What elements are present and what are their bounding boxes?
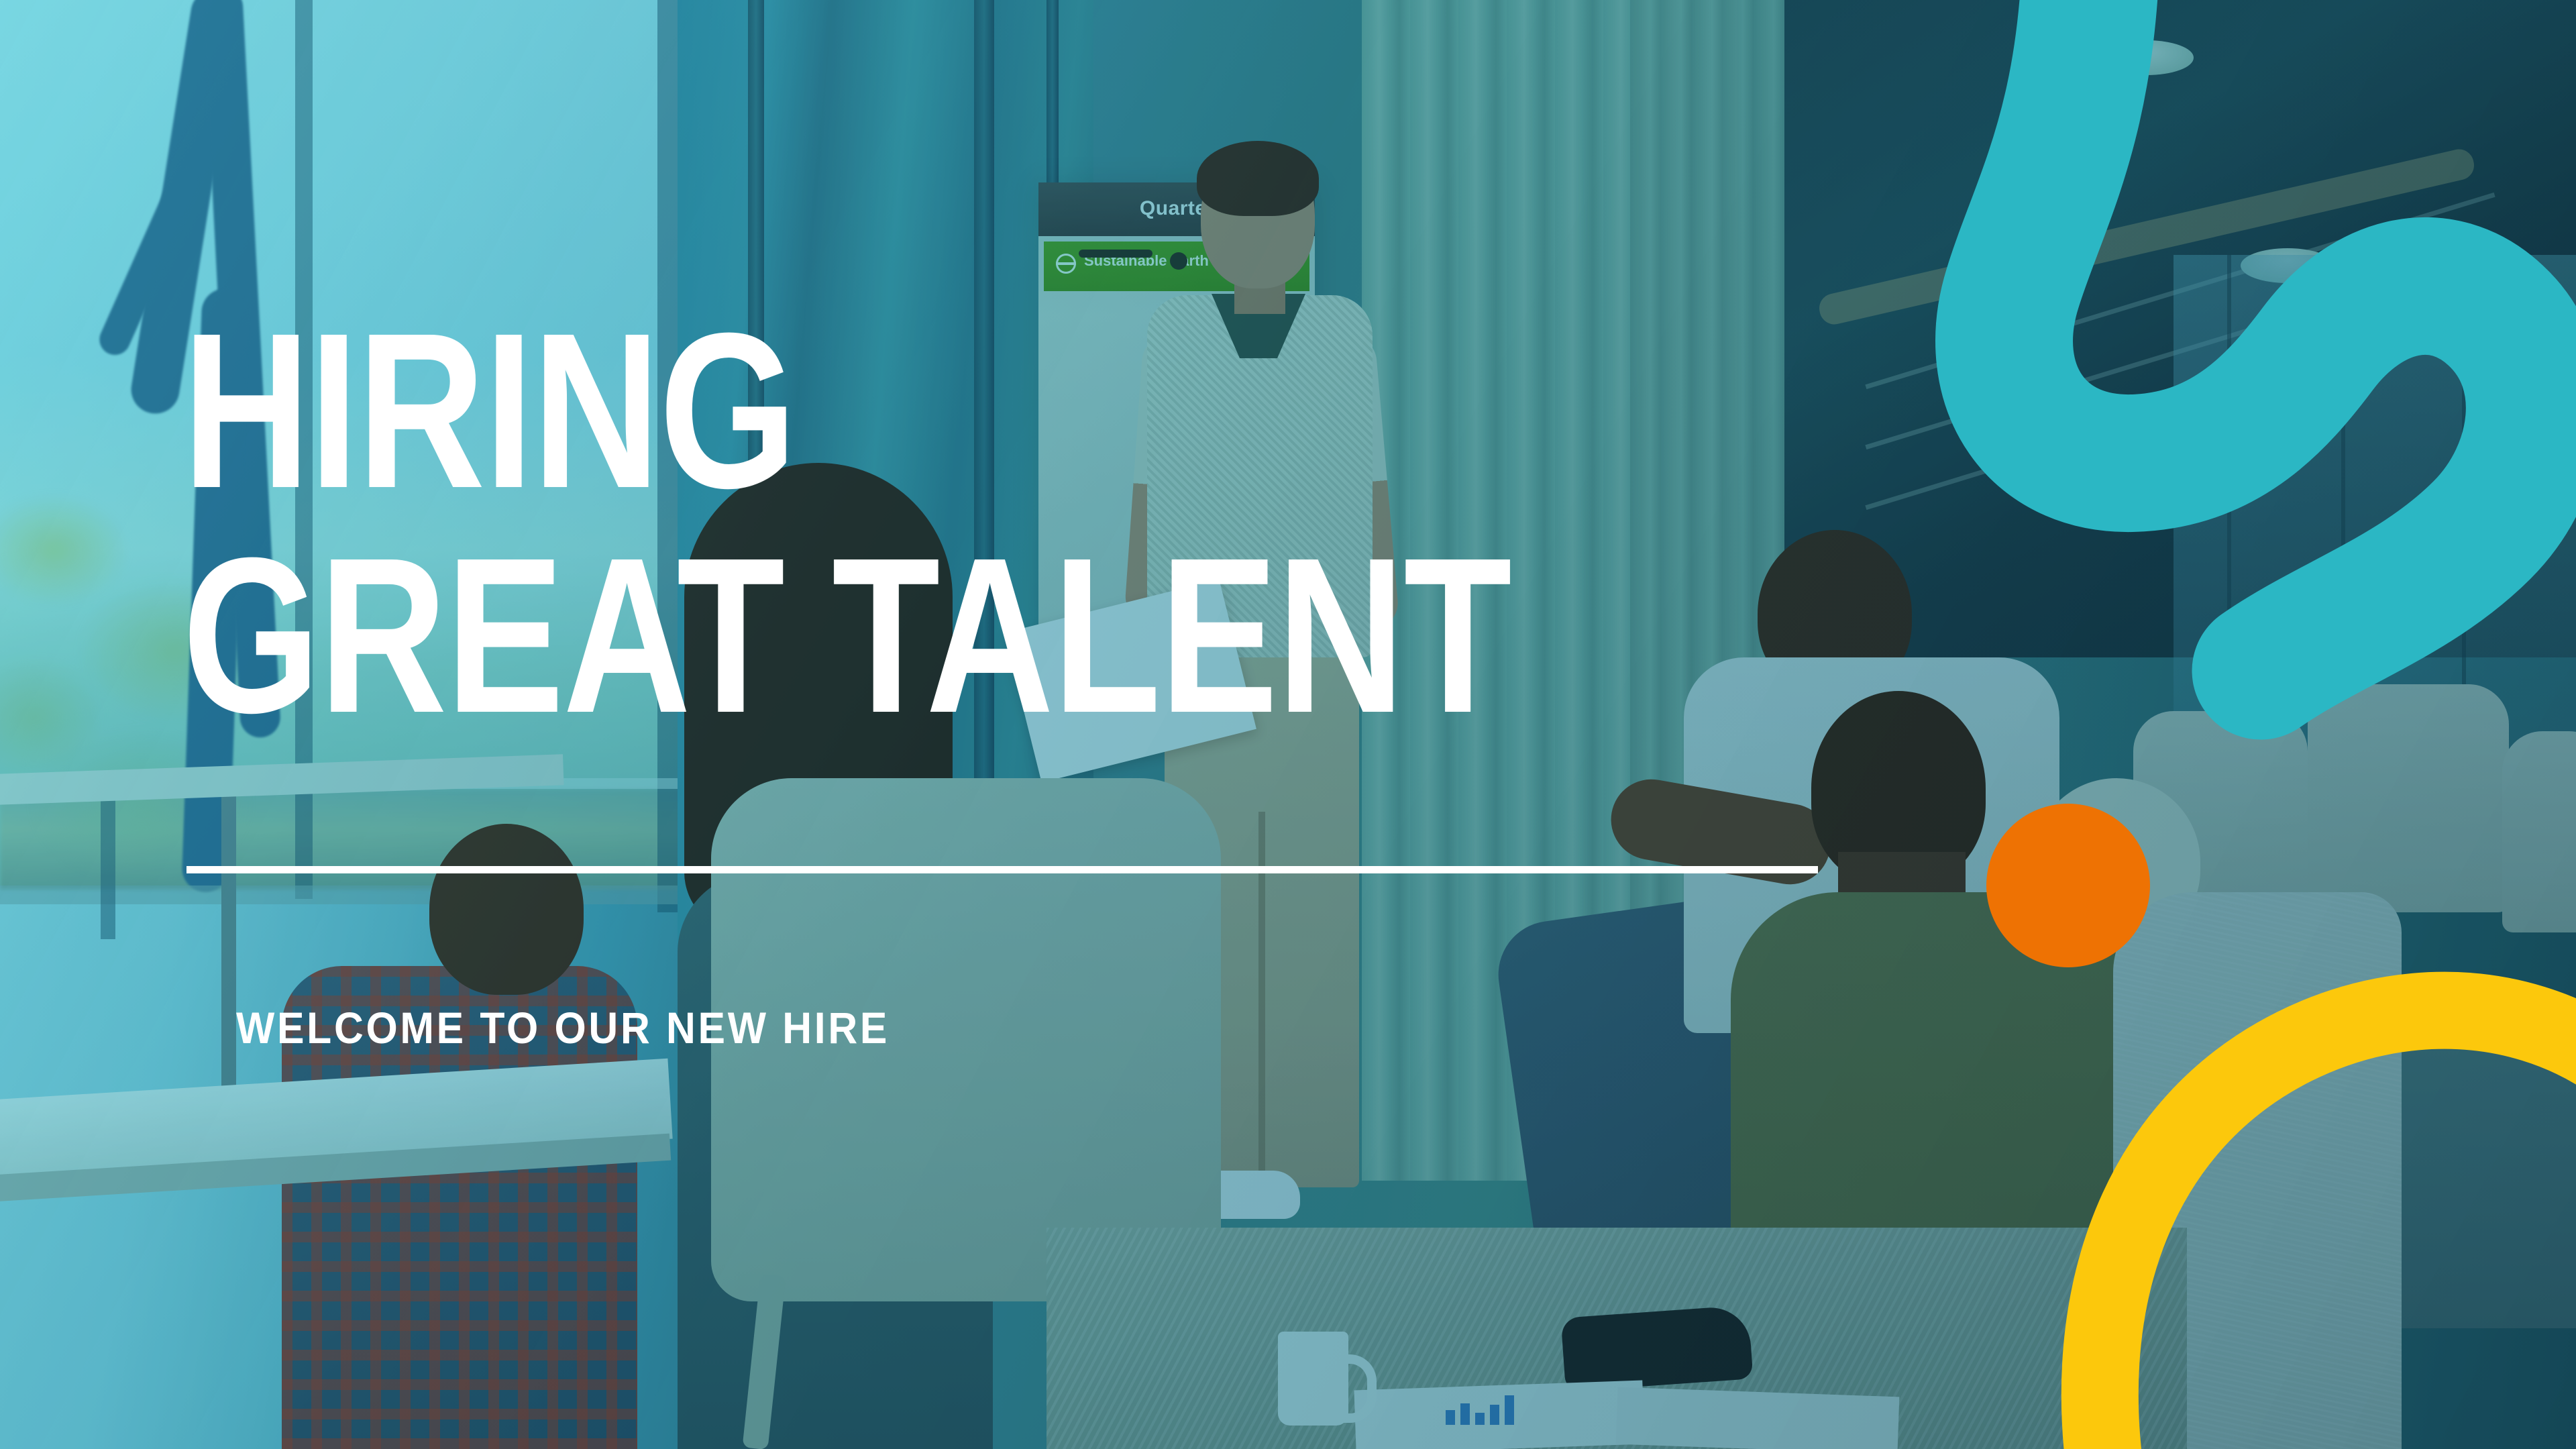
subtitle-text: WELCOME TO OUR NEW HIRE <box>236 1002 890 1053</box>
banner-canvas: Quartet Sustainable Earth <box>0 0 2576 1449</box>
headline-block: HIRING GREAT TALENT WELCOME TO OUR NEW H… <box>0 0 2576 1449</box>
headline-line-2: GREAT TALENT <box>182 540 1511 731</box>
headline-line-1: HIRING <box>182 315 796 506</box>
white-divider-rule <box>186 866 1818 873</box>
